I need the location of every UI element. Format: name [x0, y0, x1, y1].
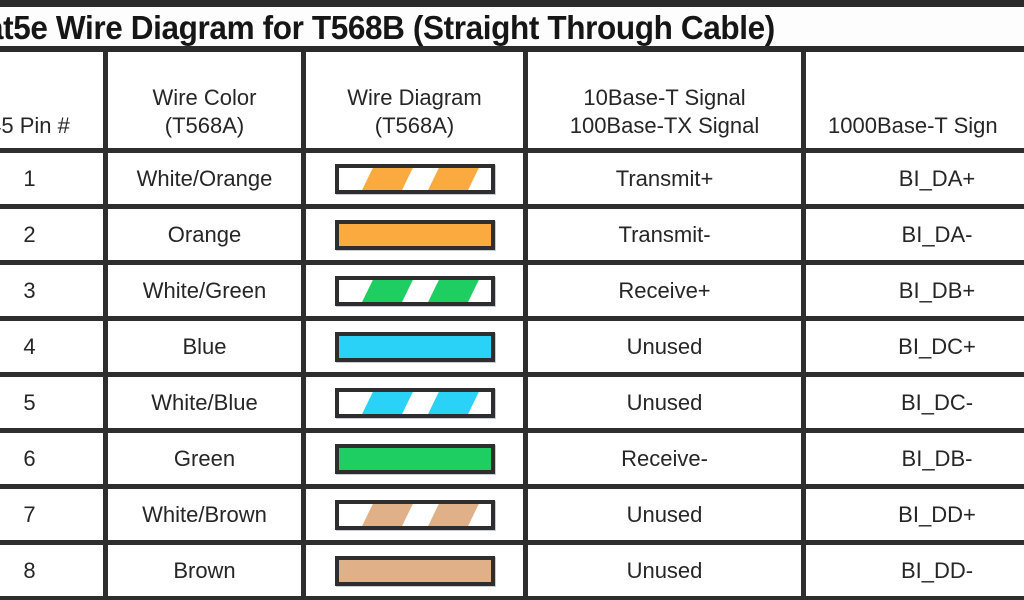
gigabit-signal-cell: BI_DD- [806, 545, 1024, 596]
wire-diagram-cell [306, 545, 528, 596]
page-title: at5e Wire Diagram for T568B (Straight Th… [0, 8, 775, 48]
wire-color-cell: Brown [108, 545, 306, 596]
pin-number-cell: 5 [0, 377, 108, 428]
wire-color-cell: White/Green [108, 265, 306, 316]
cat5e-wire-diagram-page: at5e Wire Diagram for T568B (Straight Th… [0, 0, 1024, 600]
swatch-stripe [419, 164, 482, 194]
wire-swatch-striped-icon [335, 164, 495, 194]
pin-number-cell: 1 [0, 153, 108, 204]
rj45-pin-header-cell: 45 Pin # [0, 52, 108, 148]
wire-color-header-cell: Wire Color (T568A) [108, 52, 306, 148]
pin-number-cell: 3 [0, 265, 108, 316]
table-header-row: 45 Pin # Wire Color (T568A) Wire Diagram… [0, 52, 1024, 153]
table-row: 3White/GreenReceive+BI_DB+ [0, 265, 1024, 321]
table-row: 7White/BrownUnusedBI_DD+ [0, 489, 1024, 545]
top-border-strip [0, 0, 1024, 7]
title-banner: at5e Wire Diagram for T568B (Straight Th… [0, 7, 1024, 52]
base-t-signal-cell: Unused [528, 545, 806, 596]
base-t-signal-header-line2: 100Base-TX Signal [570, 113, 760, 138]
gigabit-signal-cell: BI_DC- [806, 377, 1024, 428]
swatch-stripe [353, 164, 416, 194]
pin-number-cell: 4 [0, 321, 108, 372]
wire-swatch-striped-icon [335, 500, 495, 530]
base-t-signal-header-line1: 10Base-T Signal [583, 85, 745, 110]
wire-color-header-line2: (T568A) [165, 113, 244, 138]
base-t-signal-header-cell: 10Base-T Signal 100Base-TX Signal [528, 52, 806, 148]
pin-number-cell: 6 [0, 433, 108, 484]
base-t-signal-cell: Receive+ [528, 265, 806, 316]
wire-diagram-cell [306, 489, 528, 540]
wire-color-cell: White/Brown [108, 489, 306, 540]
wire-color-cell: Blue [108, 321, 306, 372]
gigabit-signal-cell: BI_DC+ [806, 321, 1024, 372]
base-t-signal-cell: Unused [528, 489, 806, 540]
wire-diagram-cell [306, 321, 528, 372]
wire-swatch-striped-icon [335, 388, 495, 418]
base-t-signal-cell: Unused [528, 377, 806, 428]
gigabit-signal-cell: BI_DA+ [806, 153, 1024, 204]
gigabit-signal-cell: BI_DB+ [806, 265, 1024, 316]
wire-diagram-header-cell: Wire Diagram (T568A) [306, 52, 528, 148]
wire-diagram-cell [306, 433, 528, 484]
wire-color-header-line1: Wire Color [153, 85, 257, 110]
wire-swatch-solid-icon [335, 332, 495, 362]
gigabit-signal-cell: BI_DB- [806, 433, 1024, 484]
wire-diagram-cell [306, 153, 528, 204]
wire-swatch-striped-icon [335, 276, 495, 306]
swatch-fill [339, 448, 491, 470]
swatch-stripe [419, 388, 482, 418]
table-row: 2OrangeTransmit-BI_DA- [0, 209, 1024, 265]
swatch-stripe [353, 388, 416, 418]
swatch-stripe [419, 500, 482, 530]
wiring-table: 45 Pin # Wire Color (T568A) Wire Diagram… [0, 52, 1024, 600]
wire-color-cell: Orange [108, 209, 306, 260]
gigabit-signal-cell: BI_DD+ [806, 489, 1024, 540]
table-row: 8BrownUnusedBI_DD- [0, 545, 1024, 600]
table-body: 1White/OrangeTransmit+BI_DA+2OrangeTrans… [0, 153, 1024, 600]
table-row: 5White/BlueUnusedBI_DC- [0, 377, 1024, 433]
gigabit-signal-header-line1: 1000Base-T Sign [828, 113, 998, 138]
wire-diagram-header-line1: Wire Diagram [347, 85, 481, 110]
swatch-stripe [353, 500, 416, 530]
table-row: 4BlueUnusedBI_DC+ [0, 321, 1024, 377]
base-t-signal-cell: Transmit- [528, 209, 806, 260]
wire-color-cell: White/Blue [108, 377, 306, 428]
pin-number-cell: 8 [0, 545, 108, 596]
swatch-stripe [419, 276, 482, 306]
gigabit-signal-header-cell: 1000Base-T Sign [806, 52, 1024, 148]
gigabit-signal-cell: BI_DA- [806, 209, 1024, 260]
swatch-fill [339, 336, 491, 358]
wire-color-cell: Green [108, 433, 306, 484]
wire-diagram-cell [306, 265, 528, 316]
base-t-signal-cell: Receive- [528, 433, 806, 484]
base-t-signal-cell: Unused [528, 321, 806, 372]
base-t-signal-cell: Transmit+ [528, 153, 806, 204]
wire-swatch-solid-icon [335, 444, 495, 474]
rj45-pin-header-line1: 45 Pin # [0, 113, 70, 138]
swatch-stripe [353, 276, 416, 306]
wire-diagram-header-line2: (T568A) [375, 113, 454, 138]
wire-swatch-solid-icon [335, 556, 495, 586]
pin-number-cell: 2 [0, 209, 108, 260]
wire-diagram-cell [306, 209, 528, 260]
wire-diagram-cell [306, 377, 528, 428]
pin-number-cell: 7 [0, 489, 108, 540]
wire-color-cell: White/Orange [108, 153, 306, 204]
swatch-fill [339, 560, 491, 582]
table-row: 6GreenReceive-BI_DB- [0, 433, 1024, 489]
wire-swatch-solid-icon [335, 220, 495, 250]
swatch-fill [339, 224, 491, 246]
table-row: 1White/OrangeTransmit+BI_DA+ [0, 153, 1024, 209]
